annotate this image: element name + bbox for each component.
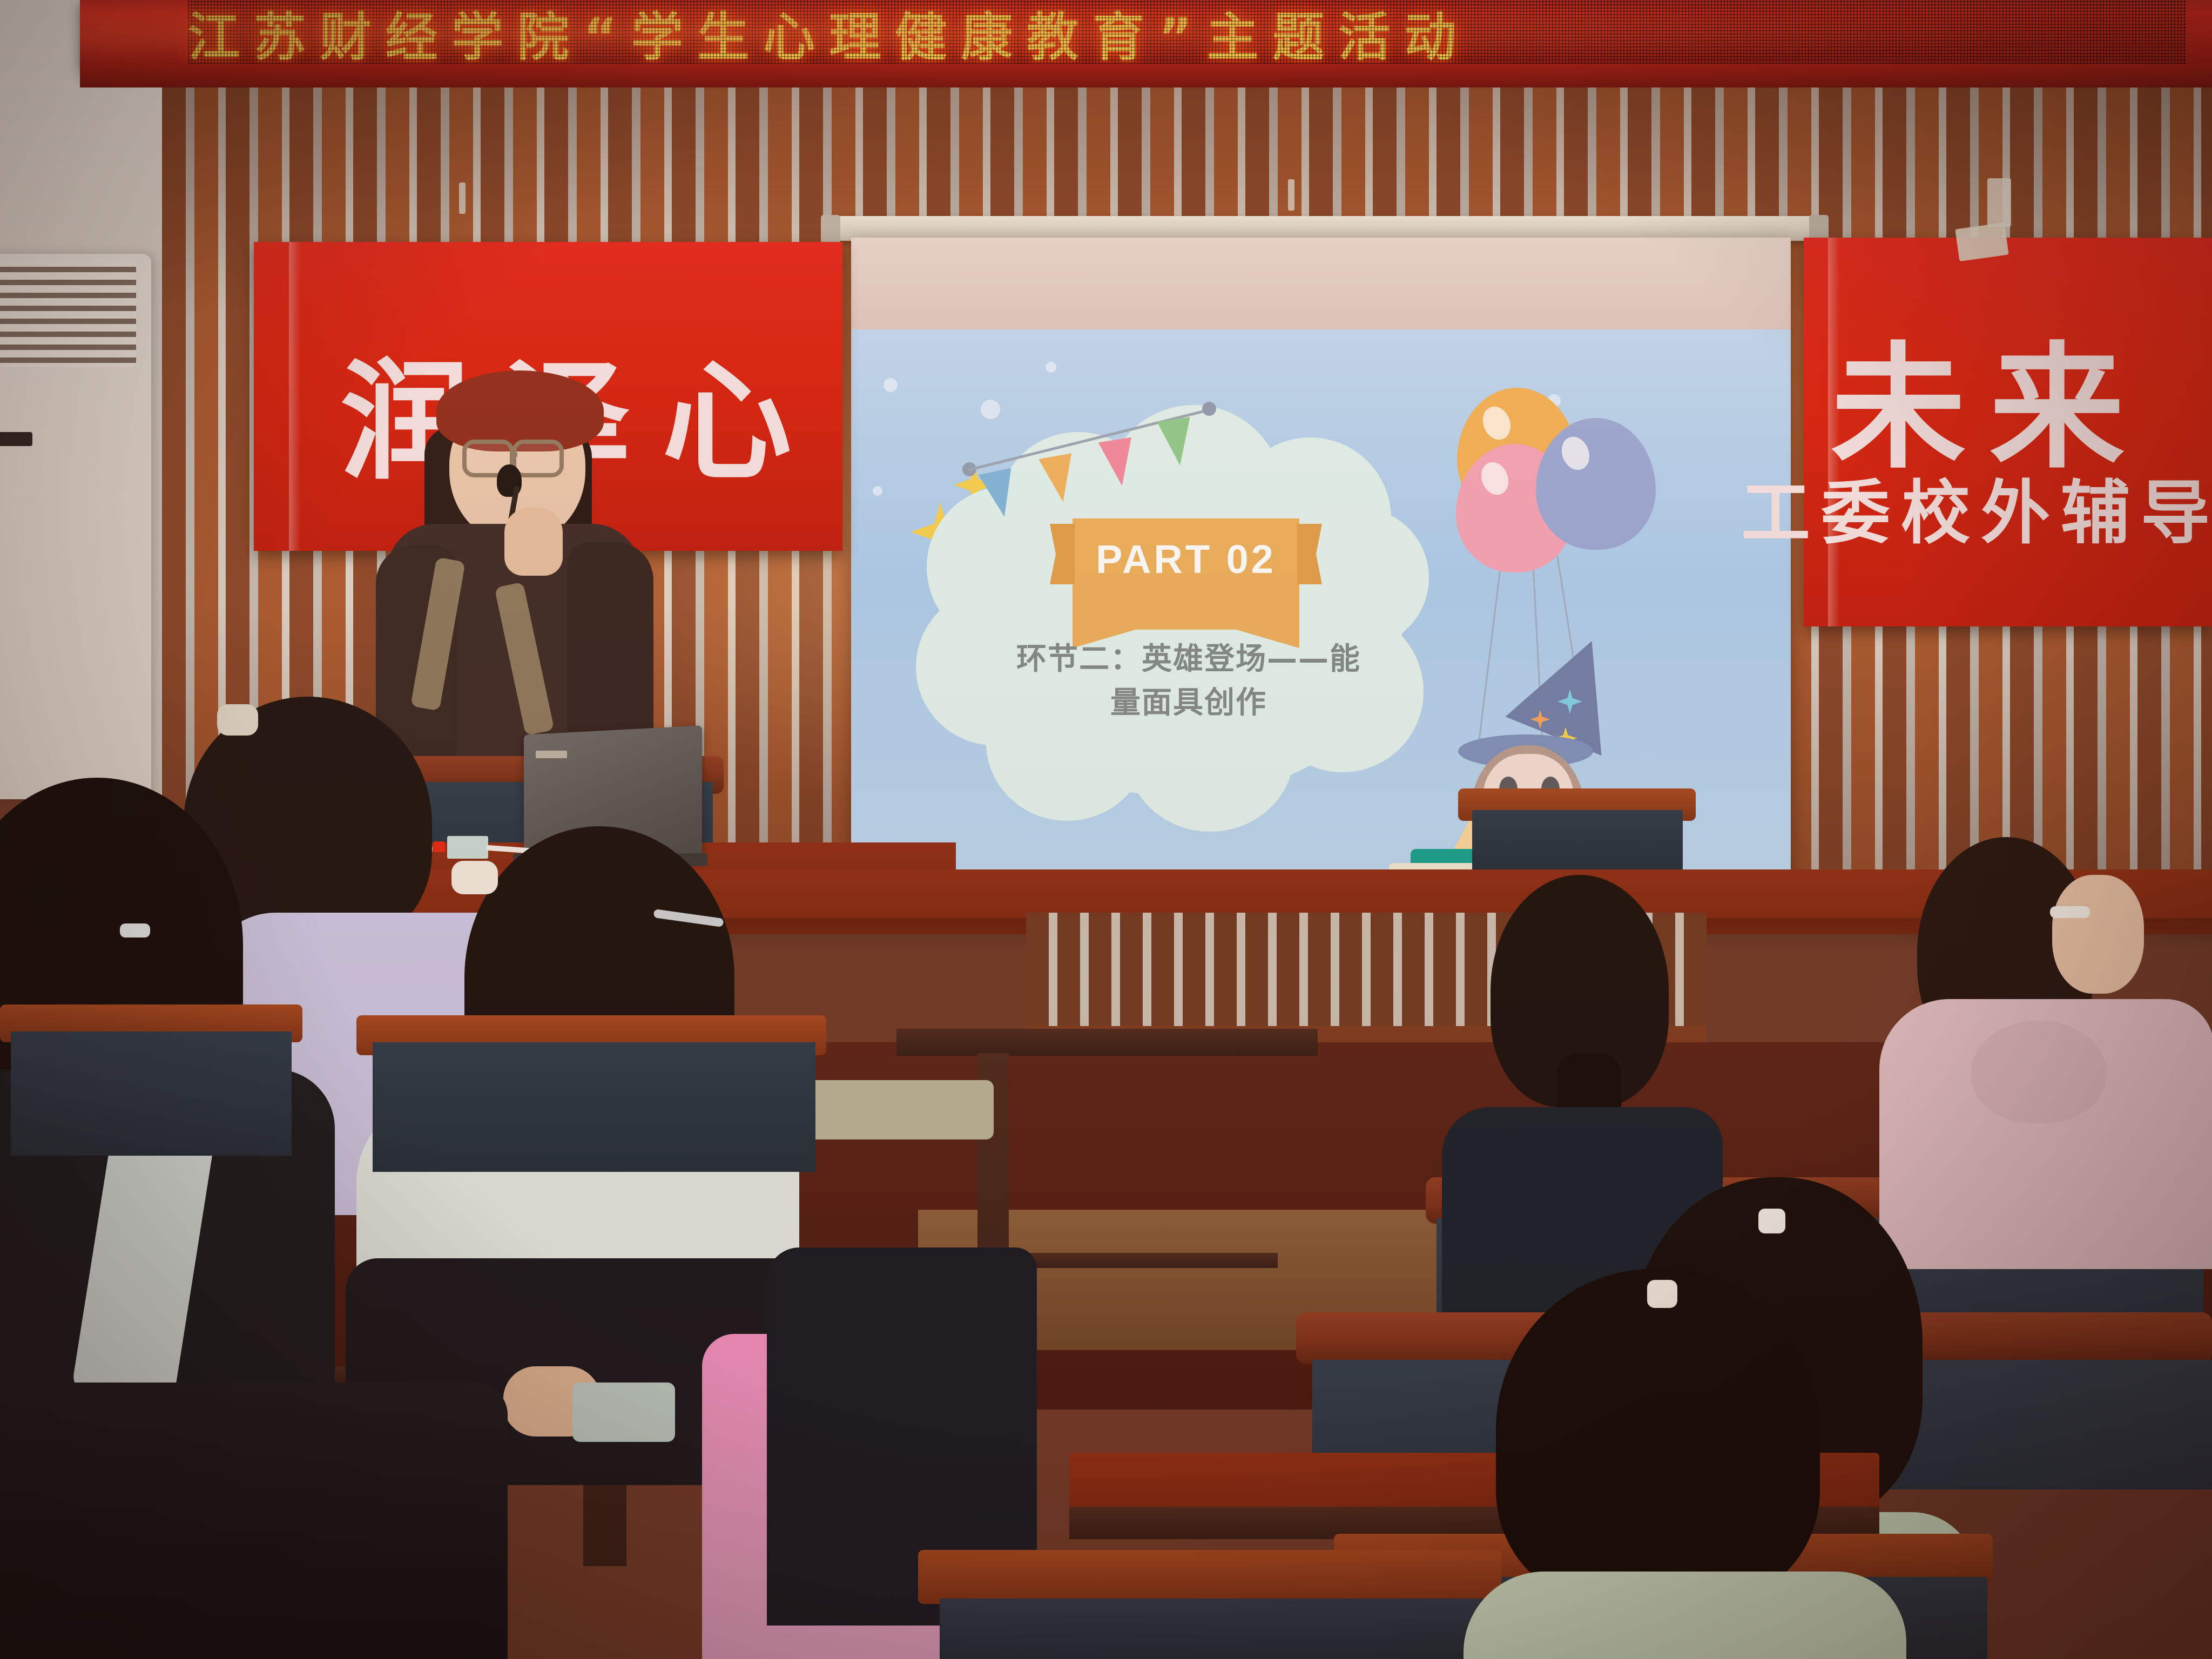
student-paper-bag bbox=[572, 1382, 675, 1442]
student-foreground-sweater bbox=[1464, 1572, 1906, 1659]
ceiling-hook-right bbox=[1987, 178, 2011, 227]
chair-left-front-pad bbox=[11, 1031, 292, 1156]
screen-blank-top-area bbox=[851, 238, 1791, 329]
stage-chair-right-pad bbox=[1472, 810, 1683, 875]
chair-center-front-pad bbox=[373, 1042, 815, 1172]
student-white-top-scrunchie bbox=[451, 861, 498, 894]
screen-roller-cap-left bbox=[821, 215, 840, 243]
student-hair-pin bbox=[120, 923, 150, 938]
student-hood bbox=[1971, 1021, 2106, 1123]
sky-dot-1 bbox=[884, 378, 898, 392]
bunting-pin-right bbox=[1202, 402, 1216, 416]
sky-dot-5 bbox=[873, 486, 882, 496]
led-pixel-grid-overlay bbox=[188, 0, 2186, 67]
student-pink-coat-face bbox=[2052, 875, 2144, 994]
student-mint-hairtie bbox=[1758, 1209, 1785, 1233]
slide-heading-line1: 环节二：英雄登场——能 bbox=[975, 637, 1402, 681]
balloon-blue bbox=[1536, 418, 1656, 550]
right-red-banner: 未来 工委校外辅导 bbox=[1804, 238, 2212, 626]
ceiling-hook-mid bbox=[1288, 179, 1294, 211]
student-foreground-bottom bbox=[1415, 1269, 1944, 1659]
student-foreground-hair bbox=[1496, 1269, 1820, 1604]
photo-scene: 江苏财经学院“学生心理健康教育”主题活动 bbox=[0, 0, 2212, 1659]
laptop-brand-badge bbox=[536, 751, 567, 758]
led-marquee-banner: 江苏财经学院“学生心理健康教育”主题活动 bbox=[80, 0, 2212, 71]
part-ribbon: PART 02 bbox=[1073, 518, 1299, 599]
air-conditioner-display bbox=[0, 432, 32, 446]
projector-screen: PART 02 环节二：英雄登场——能 量面具创作 bbox=[851, 238, 1791, 880]
cloud-shape: PART 02 环节二：英雄登场——能 量面具创作 bbox=[916, 383, 1434, 832]
presenter-hand bbox=[504, 508, 563, 576]
student-foreground-hairtie bbox=[1647, 1280, 1677, 1308]
right-banner-text-line2: 工委校外辅导 bbox=[1741, 457, 2212, 557]
ceiling-hook-left bbox=[459, 183, 466, 214]
student-lavender-scrunchie bbox=[217, 704, 258, 736]
slide-heading-line2: 量面具创作 bbox=[975, 681, 1402, 725]
presenter-beret bbox=[436, 370, 604, 451]
sky-dot-3 bbox=[1046, 362, 1056, 373]
chair-foreground-center-pad bbox=[940, 1599, 1491, 1659]
led-banner-text: 江苏财经学院“学生心理健康教育”主题活动 bbox=[188, 0, 2186, 67]
desk-middle[interactable] bbox=[896, 1029, 1318, 1056]
part-label: PART 02 bbox=[1073, 518, 1299, 599]
foreground-dark-mass-left bbox=[0, 1382, 508, 1659]
student-hairclip bbox=[2050, 906, 2090, 918]
chair-foreground-center[interactable] bbox=[918, 1550, 1501, 1604]
banner-tape-right bbox=[1955, 222, 2008, 261]
air-vent-grille bbox=[0, 259, 136, 367]
led-banner-bottom-trim bbox=[80, 64, 2212, 87]
slide-heading: 环节二：英雄登场——能 量面具创作 bbox=[975, 637, 1402, 725]
presenter-glasses-bridge bbox=[512, 453, 517, 457]
